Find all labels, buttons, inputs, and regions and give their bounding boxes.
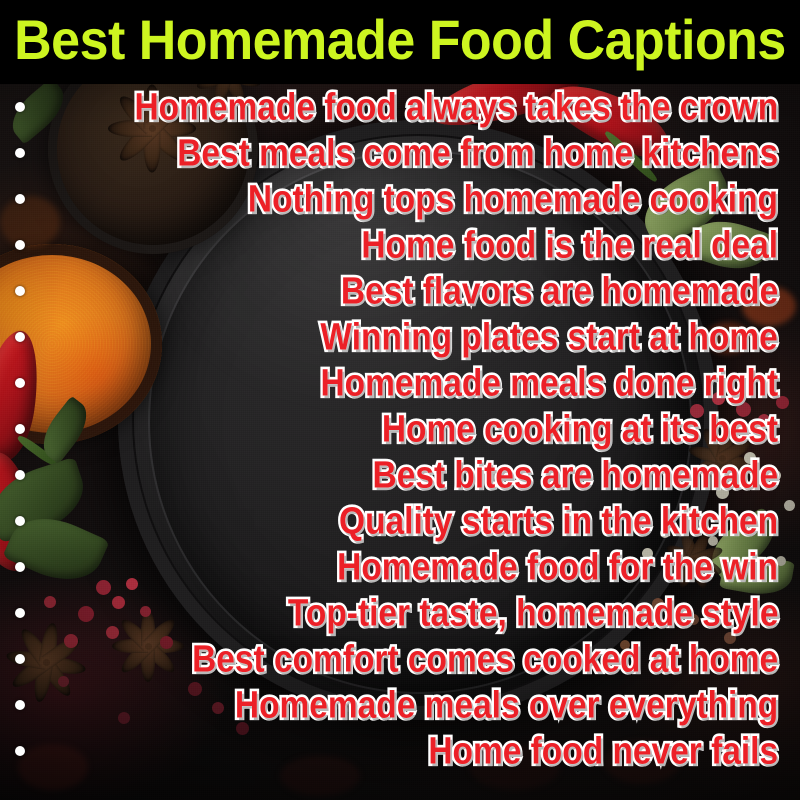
page-title: Best Homemade Food Captions [8,14,792,70]
caption-label: Winning plates start at home [321,318,778,356]
bullet-icon [15,516,25,526]
list-item: Home food is the real deal [0,222,800,268]
caption-label: Nothing tops homemade cooking [248,180,778,218]
caption-label: Best bites are homemade [372,456,778,494]
bullet-icon [15,654,25,664]
list-item: Best comfort comes cooked at home [0,636,800,682]
bullet-icon [15,700,25,710]
caption-label: Home food is the real deal [361,226,778,264]
caption-list: Homemade food always takes the crown Bes… [0,84,800,800]
bullet-icon [15,562,25,572]
caption-label: Home cooking at its best [382,410,778,448]
list-item: Best bites are homemade [0,452,800,498]
caption-label: Best comfort comes cooked at home [192,640,778,678]
caption-label: Homemade meals over everything [235,686,778,724]
list-item: Winning plates start at home [0,314,800,360]
title-bar: Best Homemade Food Captions [0,0,800,84]
bullet-icon [15,424,25,434]
list-item: Quality starts in the kitchen [0,498,800,544]
list-item: Homemade food always takes the crown [0,84,800,130]
list-item: Homemade food for the win [0,544,800,590]
bullet-icon [15,194,25,204]
list-item: Home cooking at its best [0,406,800,452]
caption-label: Homemade food for the win [337,548,778,586]
caption-label: Best flavors are homemade [341,272,778,310]
caption-label: Best meals come from home kitchens [177,134,778,172]
bullet-icon [15,286,25,296]
bullet-icon [15,378,25,388]
bullet-icon [15,240,25,250]
list-item: Nothing tops homemade cooking [0,176,800,222]
list-item: Best meals come from home kitchens [0,130,800,176]
caption-label: Quality starts in the kitchen [339,502,778,540]
list-item: Top-tier taste, homemade style [0,590,800,636]
bullet-icon [15,608,25,618]
list-item: Best flavors are homemade [0,268,800,314]
bullet-icon [15,332,25,342]
caption-label: Home food never fails [428,732,778,770]
caption-label: Homemade food always takes the crown [134,88,778,126]
caption-label: Top-tier taste, homemade style [287,594,778,632]
list-item: Homemade meals over everything [0,682,800,728]
food-captions-poster: Best Homemade Food Captions Homemade foo… [0,0,800,800]
bullet-icon [15,746,25,756]
caption-label: Homemade meals done right [320,364,778,402]
list-item: Home food never fails [0,728,800,774]
bullet-icon [15,470,25,480]
list-item: Homemade meals done right [0,360,800,406]
bullet-icon [15,148,25,158]
bullet-icon [15,102,25,112]
